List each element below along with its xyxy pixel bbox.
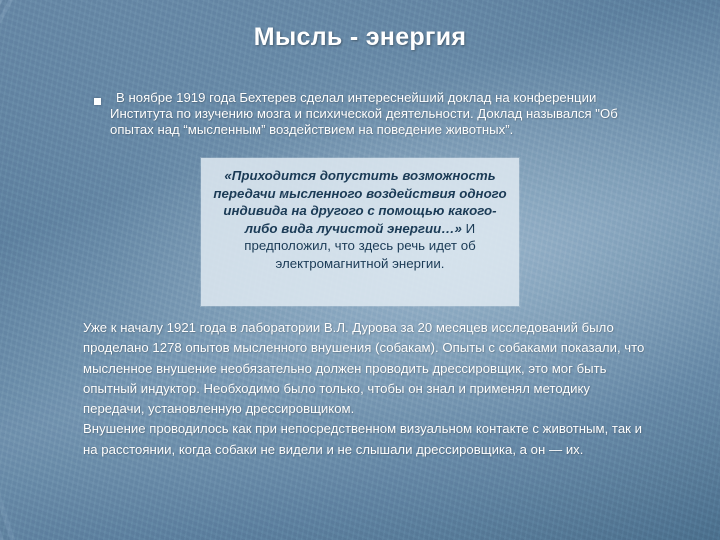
quote-content: «Приходится допустить возможность переда… <box>201 158 519 273</box>
quote-text: «Приходится допустить возможность переда… <box>213 168 506 236</box>
presentation-slide: Мысль - энергия В ноябре 1919 года Бехте… <box>0 0 720 540</box>
list-item: В ноябре 1919 года Бехтерев сделал интер… <box>94 90 644 139</box>
quote-callout-box: «Приходится допустить возможность переда… <box>201 158 519 306</box>
body-paragraph-2: Внушение проводилось как при непосредств… <box>83 419 645 460</box>
square-bullet-icon <box>94 98 101 105</box>
slide-title: Мысль - энергия <box>0 22 720 53</box>
bullet-item-text: В ноябре 1919 года Бехтерев сделал интер… <box>110 90 644 139</box>
body-text: Уже к началу 1921 года в лаборатории В.Л… <box>83 318 645 460</box>
body-paragraph-1: Уже к началу 1921 года в лаборатории В.Л… <box>83 318 645 419</box>
bullet-list: В ноябре 1919 года Бехтерев сделал интер… <box>94 90 644 139</box>
